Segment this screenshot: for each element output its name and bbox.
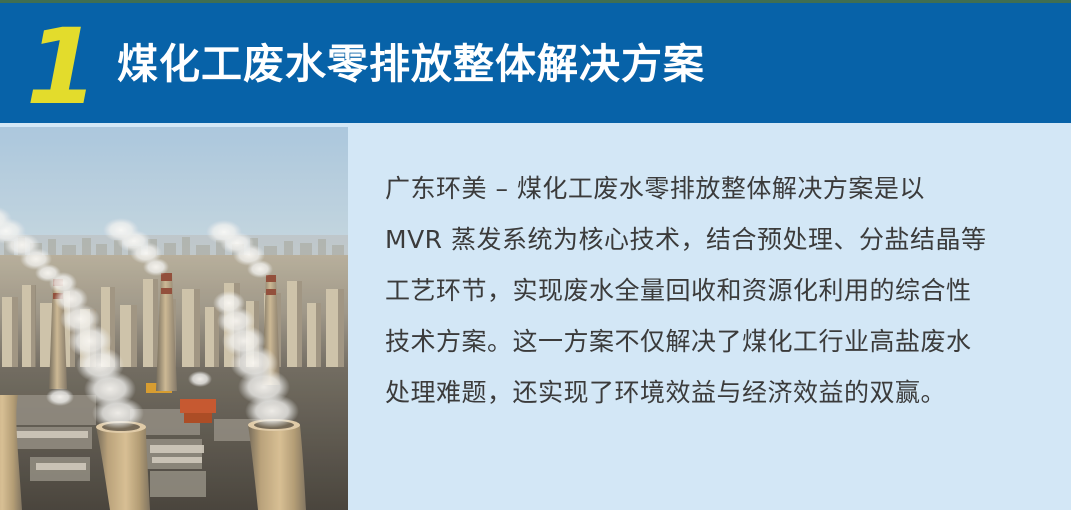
page-title: 煤化工废水零排放整体解决方案	[117, 36, 705, 92]
solution-description-text: 广东环美 – 煤化工废水零排放整体解决方案是以 MVR 蒸发系统为核心技术，结合…	[385, 163, 1010, 418]
photo-illustration	[0, 127, 348, 510]
content-area: 广东环美 – 煤化工废水零排放整体解决方案是以 MVR 蒸发系统为核心技术，结合…	[0, 123, 1071, 510]
header-bar: 1 煤化工废水零排放整体解决方案	[0, 0, 1071, 123]
section-number-badge: 1	[22, 17, 100, 117]
slide-root: 1 煤化工废水零排放整体解决方案	[0, 0, 1071, 510]
industrial-plant-photo	[0, 127, 348, 510]
